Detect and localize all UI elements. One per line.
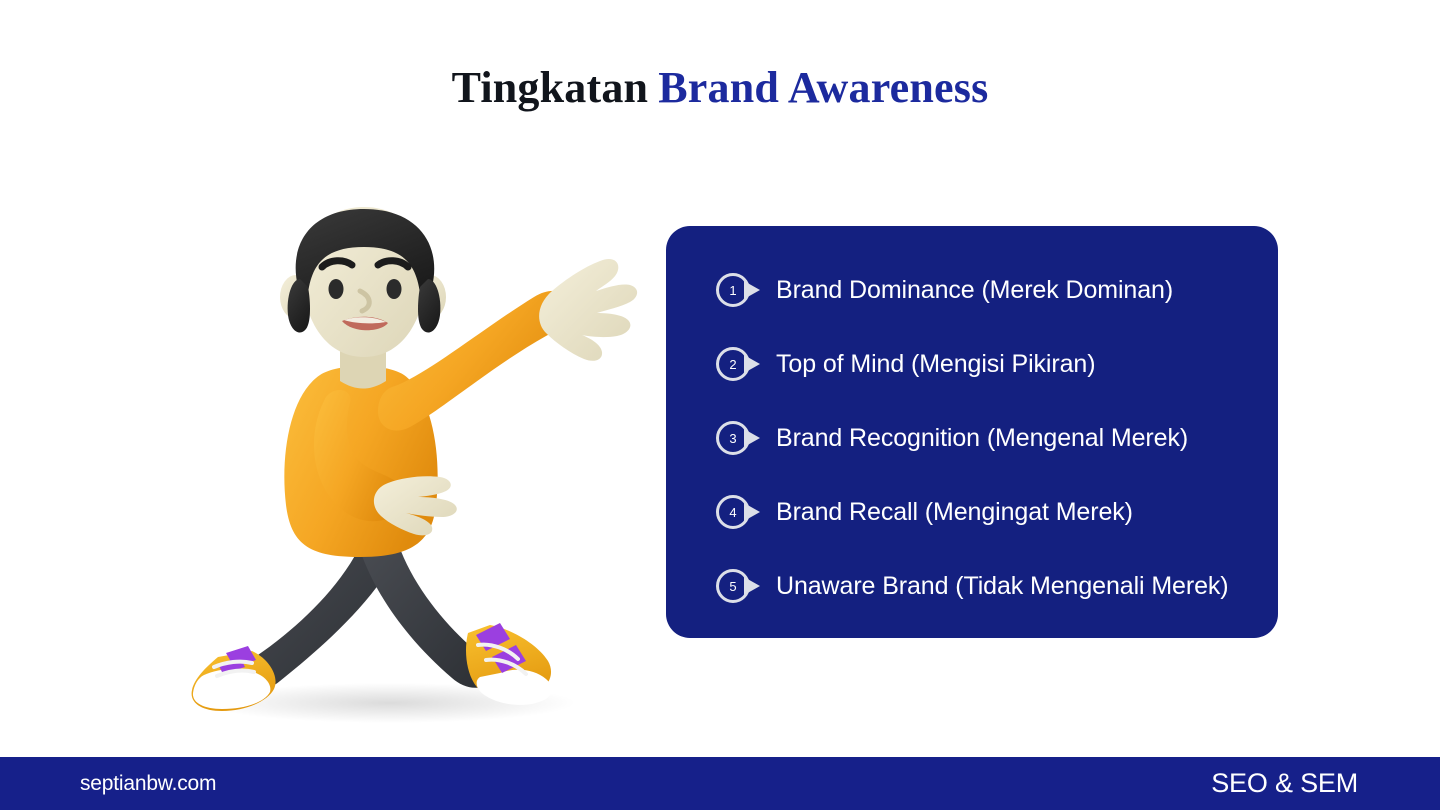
list-item-label: Unaware Brand (Tidak Mengenali Merek) — [776, 572, 1229, 601]
footer-topic-label: SEO & SEM — [1211, 768, 1358, 799]
bullet-marker-icon: 3 — [716, 421, 762, 455]
bullet-number: 1 — [729, 284, 736, 297]
list-item-label: Brand Recall (Mengingat Merek) — [776, 498, 1133, 527]
hand-pointing — [539, 259, 637, 361]
bullet-marker-icon: 1 — [716, 273, 762, 307]
bullet-marker-icon: 2 — [716, 347, 762, 381]
page-title-accent: Brand Awareness — [658, 63, 988, 112]
character-illustration — [160, 205, 660, 725]
bullet-number: 5 — [729, 580, 736, 593]
list-item-label: Brand Dominance (Merek Dominan) — [776, 276, 1173, 305]
bullet-number: 3 — [729, 432, 736, 445]
chevron-right-icon — [744, 577, 760, 595]
brand-awareness-panel: 1 Brand Dominance (Merek Dominan) 2 Top … — [666, 226, 1278, 638]
page-title: TingkatanBrand Awareness — [0, 62, 1440, 113]
list-item[interactable]: 1 Brand Dominance (Merek Dominan) — [716, 260, 1256, 320]
bullet-marker-icon: 5 — [716, 569, 762, 603]
eye-right — [387, 279, 402, 299]
list-item[interactable]: 5 Unaware Brand (Tidak Mengenali Merek) — [716, 556, 1256, 616]
list-item[interactable]: 4 Brand Recall (Mengingat Merek) — [716, 482, 1256, 542]
footer-bar: septianbw.com SEO & SEM — [0, 757, 1440, 810]
bullet-marker-icon: 4 — [716, 495, 762, 529]
slide-root: TingkatanBrand Awareness — [0, 0, 1440, 810]
list-item-label: Brand Recognition (Mengenal Merek) — [776, 424, 1188, 453]
character-illustration-svg — [160, 205, 660, 725]
bullet-number: 4 — [729, 506, 736, 519]
list-item[interactable]: 2 Top of Mind (Mengisi Pikiran) — [716, 334, 1256, 394]
chevron-right-icon — [744, 355, 760, 373]
chevron-right-icon — [744, 429, 760, 447]
footer-website-label: septianbw.com — [80, 772, 216, 796]
list-item-label: Top of Mind (Mengisi Pikiran) — [776, 350, 1095, 379]
chevron-right-icon — [744, 281, 760, 299]
chevron-right-icon — [744, 503, 760, 521]
list-item[interactable]: 3 Brand Recognition (Mengenal Merek) — [716, 408, 1256, 468]
eye-left — [329, 279, 344, 299]
page-title-plain: Tingkatan — [452, 63, 649, 112]
awareness-level-list: 1 Brand Dominance (Merek Dominan) 2 Top … — [716, 260, 1256, 616]
bullet-number: 2 — [729, 358, 736, 371]
